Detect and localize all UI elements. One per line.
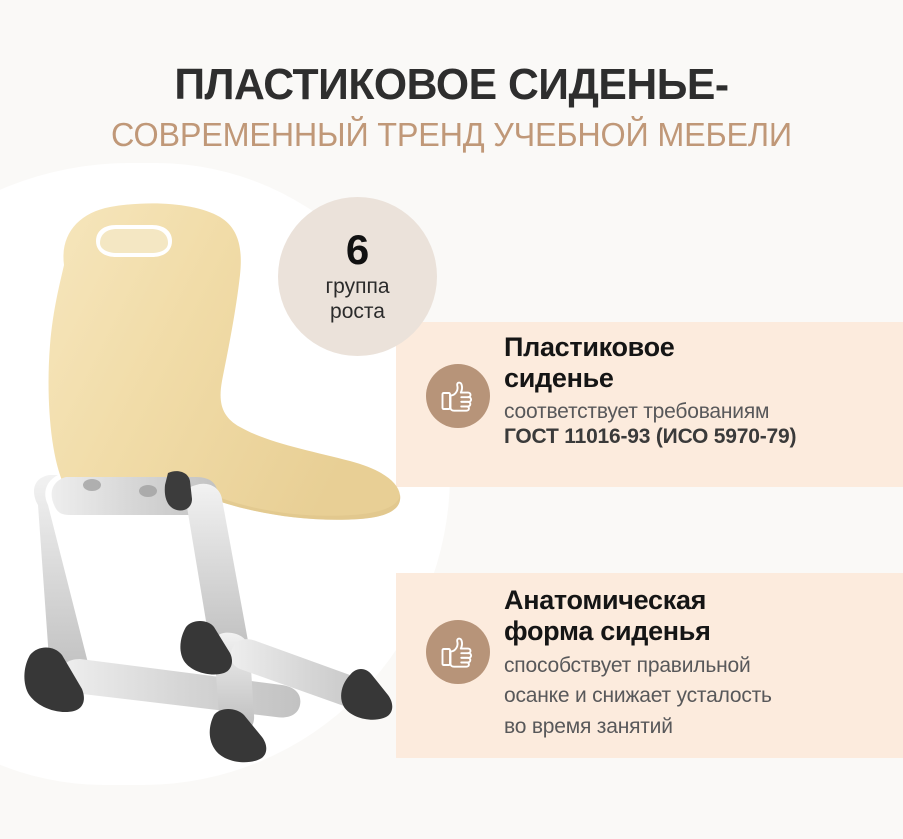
seat-mount-bracket xyxy=(165,471,192,510)
infographic-canvas: ПЛАСТИКОВОЕ СИДЕНЬЕ- СОВРЕМЕННЫЙ ТРЕНД У… xyxy=(0,0,903,839)
feature-card-text: Пластиковое сиденье соответствует требов… xyxy=(504,332,894,450)
feature-sub-line1: способствует правильной xyxy=(504,653,899,679)
feature-title-line2: сиденье xyxy=(504,363,894,394)
feature-sub-line2: осанке и снижает усталость xyxy=(504,683,899,709)
glide-front xyxy=(210,709,267,762)
feature-sub-line3: во время занятий xyxy=(504,714,899,740)
backrest-handle-inner xyxy=(100,229,168,253)
page-subtitle: СОВРЕМЕННЫЙ ТРЕНД УЧЕБНОЙ МЕБЕЛИ xyxy=(9,118,894,151)
frame-clip-right xyxy=(139,485,157,497)
glide-right xyxy=(341,669,392,720)
feature-title-line2: форма сиденья xyxy=(504,616,899,647)
feature-standard-code: ГОСТ 11016-93 (ИСО 5970-79) xyxy=(504,424,894,450)
feature-card-anatomic-shape: Анатомическая форма сиденья способствует… xyxy=(396,573,903,758)
frame-clip-left xyxy=(83,479,101,491)
page-title: ПЛАСТИКОВОЕ СИДЕНЬЕ- xyxy=(14,63,890,107)
thumbs-up-icon xyxy=(426,364,490,428)
feature-title-line1: Анатомическая xyxy=(504,585,899,616)
feature-title-line1: Пластиковое xyxy=(504,332,894,363)
thumbs-up-icon xyxy=(426,620,490,684)
feature-sub-line1: соответствует требованиям xyxy=(504,399,894,425)
feature-card-plastic-seat: Пластиковое сиденье соответствует требов… xyxy=(396,322,903,487)
feature-card-text: Анатомическая форма сиденья способствует… xyxy=(504,585,899,740)
school-chair-photo xyxy=(0,155,420,795)
